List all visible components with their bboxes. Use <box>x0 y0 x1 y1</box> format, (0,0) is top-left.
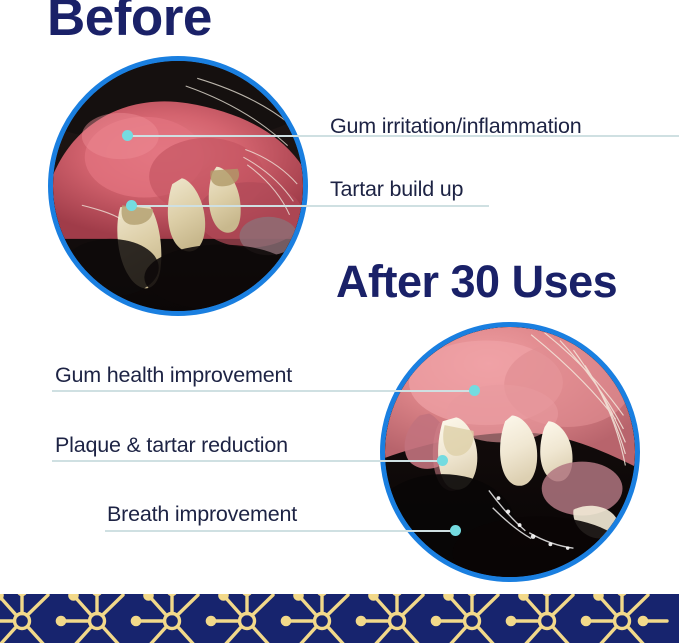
after-photo-circle <box>380 322 640 582</box>
after-heading: After 30 Uses <box>336 259 617 304</box>
before-photo-image <box>53 61 303 311</box>
after-photo-image <box>385 327 635 577</box>
callout-dot-icon <box>437 455 448 466</box>
callout-label-breath-improvement: Breath improvement <box>107 502 297 527</box>
decorative-footer-band <box>0 594 679 643</box>
callout-dot-icon <box>122 130 133 141</box>
callout-leader-line <box>52 460 442 462</box>
callout-dot-icon <box>469 385 480 396</box>
before-heading: Before <box>47 0 212 44</box>
callout-dot-icon <box>126 200 137 211</box>
callout-label-tartar-build-up: Tartar build up <box>330 177 463 202</box>
callout-leader-line <box>136 205 489 207</box>
callout-label-plaque-tartar-reduction: Plaque & tartar reduction <box>55 433 288 458</box>
callout-label-gum-irritation: Gum irritation/inflammation <box>330 114 582 139</box>
callout-label-gum-health-improvement: Gum health improvement <box>55 363 292 388</box>
callout-leader-line <box>105 530 455 532</box>
infographic-canvas: Before <box>0 0 679 643</box>
callout-dot-icon <box>450 525 461 536</box>
before-photo-circle <box>48 56 308 316</box>
callout-leader-line <box>52 390 475 392</box>
